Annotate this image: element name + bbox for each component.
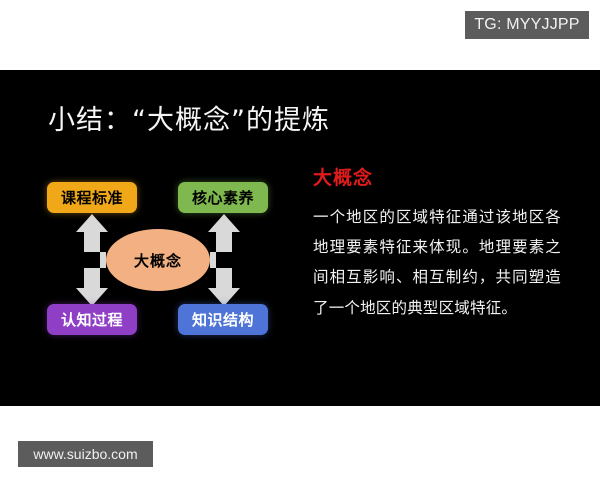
site-watermark: www.suizbo.com — [18, 441, 153, 467]
telegram-tag-watermark: TG: MYYJJPP — [465, 11, 589, 39]
presentation-slide: 小结：“大概念”的提炼 课程标 — [0, 70, 600, 406]
definition-heading: 大概念 — [313, 163, 561, 190]
definition-panel: 大概念 一个地区的区域特征通过该地区各地理要素特征来体现。地理要素之间相互影响、… — [313, 163, 561, 323]
slide-title: 小结：“大概念”的提炼 — [48, 98, 330, 137]
concept-diagram: 课程标准 核心素养 认知过程 知识结构 大概念 — [30, 170, 290, 350]
diagram-node-curriculum: 课程标准 — [47, 182, 137, 213]
diagram-center-node: 大概念 — [106, 229, 210, 291]
arrow-to-curriculum — [76, 214, 108, 260]
arrow-to-knowledge — [208, 260, 240, 306]
slide-stage: TG: MYYJJPP 小结：“大概念”的提炼 — [0, 0, 600, 480]
diagram-node-literacy: 核心素养 — [178, 182, 268, 213]
diagram-node-cognition: 认知过程 — [47, 304, 137, 335]
arrow-to-cognition — [76, 260, 108, 306]
definition-body-text: 一个地区的区域特征通过该地区各地理要素特征来体现。地理要素之间相互影响、相互制约… — [313, 202, 561, 323]
arrow-to-literacy — [208, 214, 240, 260]
diagram-node-knowledge: 知识结构 — [178, 304, 268, 335]
